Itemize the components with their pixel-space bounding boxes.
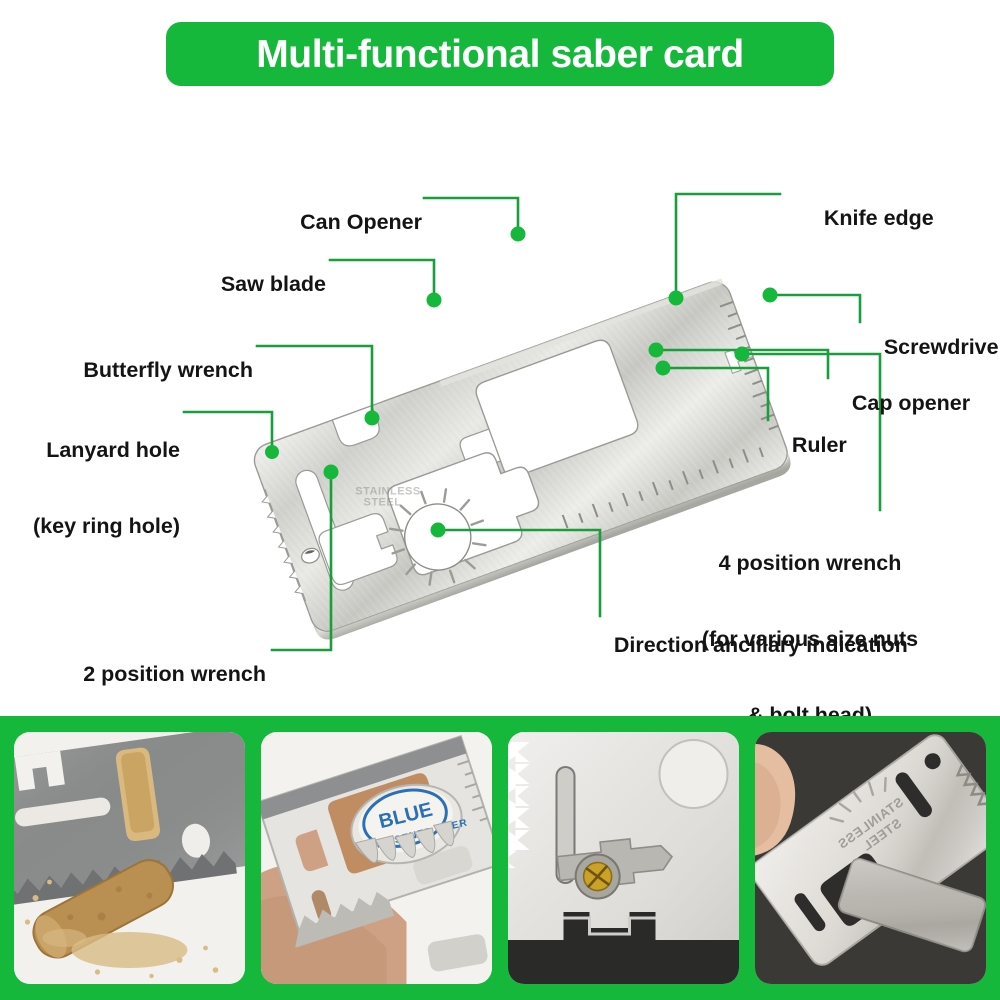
dot-knife-edge bbox=[669, 291, 684, 306]
callout-label: Screwdriver bbox=[884, 335, 1000, 359]
dot-can-opener bbox=[511, 227, 526, 242]
callout-label: Ruler bbox=[792, 433, 847, 457]
callout-label: Direction ancillary indication bbox=[614, 633, 908, 657]
product-diagram: STAINLESS STEEL bbox=[0, 100, 1000, 700]
callout-label: Saw blade bbox=[221, 272, 326, 296]
callout-label-line2: (key ring hole) bbox=[0, 514, 180, 539]
callout-dots bbox=[265, 227, 778, 538]
photo-card-in-hand: STAINLESS STEEL bbox=[755, 732, 986, 984]
dot-cap-opener bbox=[649, 343, 664, 358]
photo-saw-cutting-wood bbox=[14, 732, 245, 984]
photo-strip: BLUE PILSENER BEER bbox=[0, 716, 1000, 1000]
dot-butterfly-wrench bbox=[365, 411, 380, 426]
photo-screwdriver-screw bbox=[508, 732, 739, 984]
page-title: Multi-functional saber card bbox=[256, 35, 744, 74]
dot-direction-indication bbox=[431, 523, 446, 538]
title-banner: Multi-functional saber card bbox=[166, 22, 834, 86]
photo-bottle-cap-opening: BLUE PILSENER BEER bbox=[261, 732, 492, 984]
callout-label: Lanyard hole bbox=[0, 438, 180, 463]
callout-label: 4 position wrench bbox=[660, 551, 960, 576]
callout-two-position-wrench: 2 position wrench bbox=[20, 637, 266, 713]
dot-ruler bbox=[656, 361, 671, 376]
dot-two-position-wrench bbox=[324, 465, 339, 480]
callout-direction-indication: Direction ancillary indication bbox=[578, 608, 978, 684]
callout-ruler: Ruler bbox=[756, 408, 916, 484]
callout-label: Butterfly wrench bbox=[83, 358, 253, 382]
infographic-root: Multi-functional saber card bbox=[0, 0, 1000, 1000]
callout-label: 2 position wrench bbox=[83, 662, 266, 686]
dot-saw-blade bbox=[427, 293, 442, 308]
callout-label: Knife edge bbox=[824, 206, 934, 230]
dot-screwdriver bbox=[763, 288, 778, 303]
callout-label: Can Opener bbox=[300, 210, 422, 234]
callout-saw-blade: Saw blade bbox=[60, 247, 326, 323]
callout-knife-edge: Knife edge bbox=[788, 181, 998, 257]
dot-lanyard-hole bbox=[265, 445, 279, 459]
callout-lanyard-hole: Lanyard hole (key ring hole) bbox=[0, 387, 180, 590]
dot-four-position-wrench bbox=[735, 347, 750, 362]
